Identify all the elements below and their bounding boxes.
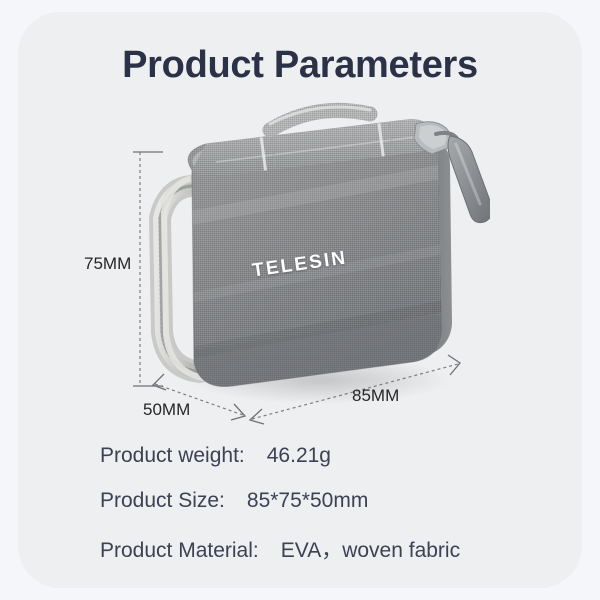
spec-row-size: Product Size: 85*75*50mm bbox=[100, 489, 560, 534]
spec-row-weight: Product weight: 46.21g bbox=[100, 444, 560, 489]
spec-list: Product weight: 46.21g Product Size: 85*… bbox=[100, 444, 560, 579]
product-parameters-page: Product Parameters bbox=[0, 0, 600, 600]
spec-label-size: Product Size: bbox=[100, 489, 225, 513]
spec-label-material: Product Material: bbox=[100, 539, 259, 563]
spec-row-material: Product Material: EVA，woven fabric bbox=[100, 534, 560, 579]
spec-value-weight: 46.21g bbox=[245, 444, 331, 468]
dimension-line-height bbox=[133, 152, 163, 386]
dimension-label-depth: 50MM bbox=[143, 400, 190, 420]
spec-label-weight: Product weight: bbox=[100, 444, 245, 468]
spec-value-size: 85*75*50mm bbox=[225, 489, 368, 513]
dimension-label-width: 85MM bbox=[352, 386, 399, 406]
dimension-label-height: 75MM bbox=[84, 254, 131, 274]
spec-value-material: EVA，woven fabric bbox=[259, 534, 460, 564]
